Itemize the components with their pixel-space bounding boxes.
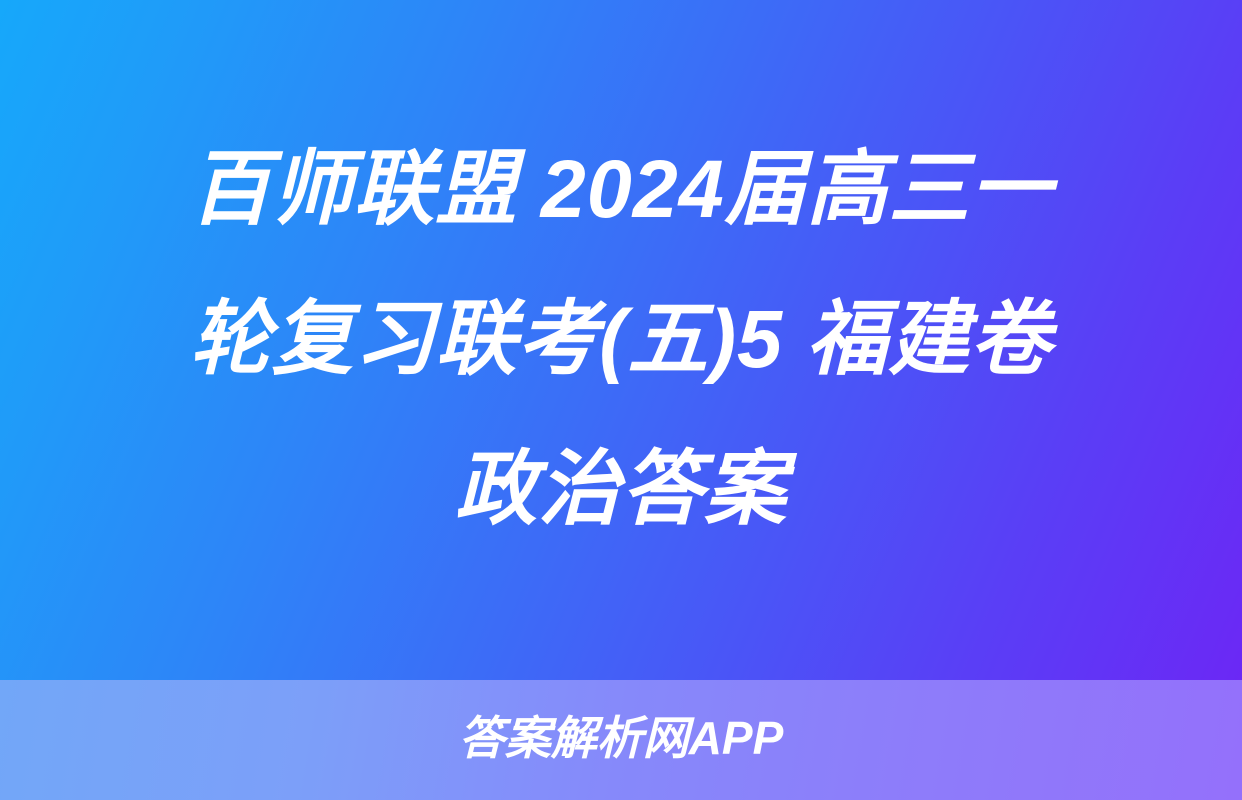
title-line-3: 政治答案 bbox=[71, 449, 1171, 531]
hero-title-block: 百师联盟 2024届高三一 轮复习联考(五)5 福建卷 政治答案 bbox=[71, 149, 1171, 531]
answer-cover-card: 百师联盟 2024届高三一 轮复习联考(五)5 福建卷 政治答案 答案解析网AP… bbox=[0, 0, 1242, 800]
brand-watermark: 答案解析网APP bbox=[459, 715, 784, 761]
title-line-2: 轮复习联考(五)5 福建卷 bbox=[79, 299, 1164, 381]
hero-banner: 百师联盟 2024届高三一 轮复习联考(五)5 福建卷 政治答案 bbox=[0, 0, 1242, 680]
title-line-1: 百师联盟 2024届高三一 bbox=[79, 149, 1164, 231]
footer-brand-band: 答案解析网APP bbox=[0, 680, 1242, 800]
